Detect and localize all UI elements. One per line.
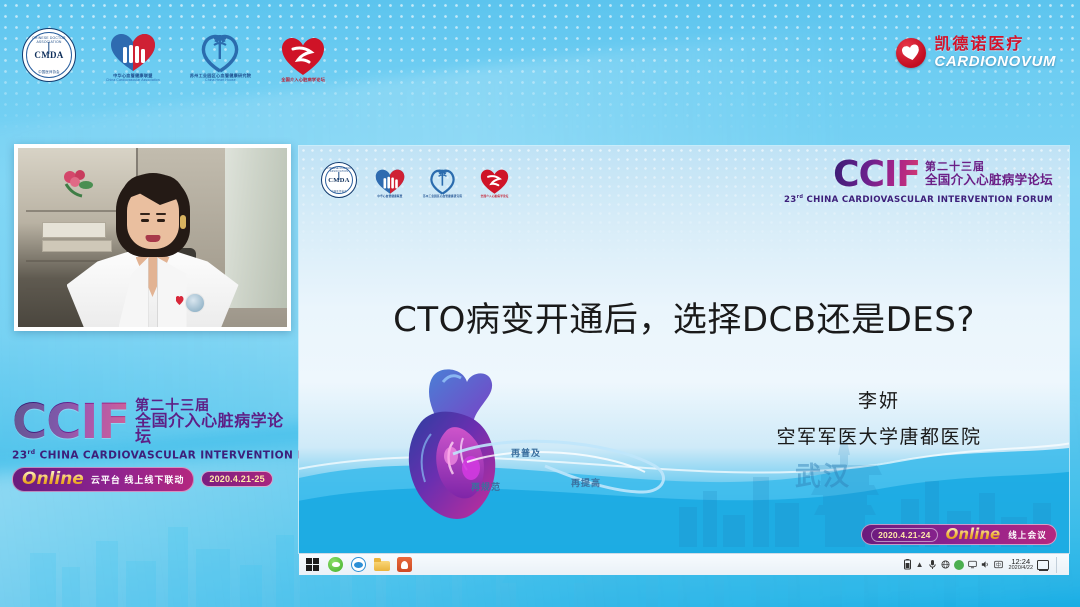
sponsor-logo: 凯德诺医疗 CARDIONOVUM (896, 36, 1056, 69)
slide-ccif-logo: CCIF 第二十三届 全国介入心脏病学论坛 23rd CHINA CARDIOV… (784, 158, 1053, 205)
forum-heart-label-cn: 全国介入心脏病学论坛 (281, 77, 325, 82)
sponsor-name-en: CARDIONOVUM (934, 54, 1056, 69)
wechat-icon (328, 557, 343, 572)
presenter-video-feed[interactable] (18, 148, 287, 327)
china-heart-house-logo: 苏州工业园区心血管健康研究院 China Heart House (190, 31, 251, 83)
wechat-taskbar-button[interactable] (325, 555, 346, 575)
slide-city-mark: 武汉 (795, 456, 851, 493)
slide-cmda-logo: CHINESE DOCTOR ASSOCIATION CMDA 中国医师协会 (321, 162, 357, 198)
presenter-brow-left (140, 213, 150, 215)
windows-taskbar[interactable]: ▲ 中 (299, 553, 1069, 575)
slide-ccif-ordinal-number: 23 (784, 195, 797, 205)
slide-forum-heart-logo: 全国介入心脏病学论坛 (480, 169, 509, 198)
slide-chh-label-cn: 苏州工业园区心血管健康研究院 (423, 195, 462, 198)
forum-heart-logo: 全国介入心脏病学论坛 (281, 37, 325, 82)
slogan-swoosh-decor (449, 426, 679, 506)
header-logo-strip: CHINESE DOCTOR ASSOCIATION CMDA 中国医师协会 中… (22, 28, 325, 82)
slide-cmda-arc-bottom: 中国医师协会 (322, 189, 356, 193)
ccif-forum-name-cn: 全国介入心脏病学论坛 (135, 414, 297, 446)
shared-slide[interactable]: 武汉 CHINESE DOCTOR ASSOCIATION CMDA 中国医师协… (299, 146, 1069, 553)
presenter-eye-left (141, 219, 149, 222)
heart-house-icon (200, 31, 240, 73)
red-heart-icon (281, 37, 325, 77)
slide-cca-label-cn: 中华心血管健康联盟 (377, 195, 402, 198)
ccif-online-label: Online (22, 471, 84, 488)
slide-red-heart-icon (480, 169, 509, 195)
battery-icon[interactable] (903, 559, 912, 570)
presenter-eye-right (157, 219, 165, 222)
slide-slogan-1: 再普及 (511, 446, 541, 459)
webinar-screen: CHINESE DOCTOR ASSOCIATION CMDA 中国医师协会 中… (0, 0, 1080, 607)
slide-ccif-ordinal-suffix: rd (797, 194, 804, 200)
cca-logo: 中华心血管健康联盟 China Cardiovascular Associati… (106, 33, 160, 83)
svg-text:中: 中 (996, 561, 1001, 568)
ccif-event-banner: CCIF 第二十三届 全国介入心脏病学论坛 23rd CHINA CARDIOV… (12, 398, 297, 502)
ccif-online-sub: 云平台 线上线下联动 (91, 473, 185, 486)
slide-title: CTO病变开通后，选择DCB还是DES? (299, 292, 1069, 341)
microphone-icon[interactable] (928, 559, 937, 570)
slide-slogan-2: 再规范 (471, 480, 501, 493)
slide-cmda-seal-icon: CHINESE DOCTOR ASSOCIATION CMDA 中国医师协会 (321, 162, 357, 198)
clock-date: 2020/4/22 (1009, 566, 1033, 572)
file-explorer-icon (374, 558, 390, 571)
presenter-head (120, 175, 186, 255)
ccif-edition-cn: 第二十三届 (135, 398, 297, 412)
powerpoint-icon (397, 557, 412, 572)
display-icon[interactable] (968, 559, 977, 570)
slide-cmda-rod-icon (338, 172, 339, 180)
ccif-wordmark: CCIF (12, 400, 129, 444)
slide-cca-logo: 中华心血管健康联盟 (375, 169, 405, 198)
speaker-icon[interactable] (981, 559, 990, 570)
slide-online-label: Online (946, 527, 1001, 542)
start-button[interactable] (302, 555, 323, 575)
slide-ccif-wordmark: CCIF (833, 158, 920, 191)
presenter-earring (180, 215, 186, 229)
ccif-date-badge: 2020.4.21-25 (201, 471, 272, 487)
ccif-ordinal-number: 23 (12, 450, 27, 462)
presenter-brow-right (156, 213, 166, 215)
ccif-ordinal-suffix: rd (27, 449, 35, 456)
windows-logo-icon (306, 558, 319, 571)
powerpoint-taskbar-button[interactable] (394, 555, 415, 575)
cmda-arc-bottom: 中国医师协会 (23, 69, 75, 74)
slide-forum-heart-label-cn: 全国介入心脏病学论坛 (481, 195, 509, 198)
slide-slogan-3: 再提高 (571, 476, 601, 489)
slide-presenter-name: 李妍 (729, 386, 1029, 413)
presenter-mouth (145, 235, 160, 242)
ccif-en-text: CHINA CARDIOVASCULAR INTERVENTION FORUM (39, 450, 342, 462)
taskbar-clock[interactable]: 12:24 2020/4/22 (1009, 558, 1033, 572)
cmda-rod-icon (48, 42, 49, 54)
slide-ccif-forum-name-en: 23rd CHINA CARDIOVASCULAR INTERVENTION F… (784, 194, 1053, 205)
chh-label-en: China Heart House (205, 78, 236, 82)
action-center-icon[interactable] (1037, 560, 1049, 570)
slide-online-sub: 线上会议 (1008, 529, 1047, 541)
chevron-up-icon[interactable]: ▲ (916, 561, 924, 569)
presenter-person (67, 177, 239, 327)
file-explorer-taskbar-button[interactable] (371, 555, 392, 575)
presenter-video-tile[interactable] (14, 144, 291, 331)
slide-heart-house-icon (429, 167, 456, 195)
slide-presenter-org: 空军军医大学唐都医院 (729, 422, 1029, 449)
status-green-icon[interactable] (954, 560, 964, 570)
cca-label-en: China Cardiovascular Association (106, 78, 160, 82)
slide-china-heart-house-logo: 苏州工业园区心血管健康研究院 (423, 167, 462, 198)
cmda-logo: CHINESE DOCTOR ASSOCIATION CMDA 中国医师协会 (22, 28, 76, 82)
ime-language-icon[interactable]: 中 (994, 559, 1003, 570)
cmda-seal-icon: CHINESE DOCTOR ASSOCIATION CMDA 中国医师协会 (22, 28, 76, 82)
sponsor-name-cn: 凯德诺医疗 (934, 36, 1056, 52)
heart-hands-icon (110, 33, 156, 73)
slide-ccif-edition-cn: 第二十三届 (925, 162, 1053, 173)
edge-taskbar-button[interactable] (348, 555, 369, 575)
slide-online-badge: 2020.4.21-24 Online 线上会议 (861, 524, 1057, 545)
slide-logo-strip: CHINESE DOCTOR ASSOCIATION CMDA 中国医师协会 中… (321, 162, 509, 198)
slide-ccif-forum-name-cn: 全国介入心脏病学论坛 (925, 174, 1053, 187)
cardionovum-heart-icon (896, 38, 926, 68)
network-icon[interactable] (941, 559, 950, 570)
slide-online-date: 2020.4.21-24 (871, 528, 938, 542)
slide-presenter-block: 李妍 空军军医大学唐都医院 (729, 386, 1029, 449)
ccif-forum-name-en: 23rd CHINA CARDIOVASCULAR INTERVENTION F… (12, 449, 297, 462)
slide-ccif-en-text: CHINA CARDIOVASCULAR INTERVENTION FORUM (807, 195, 1053, 205)
slide-heart-hands-icon (375, 169, 405, 195)
edge-icon (351, 557, 366, 572)
show-desktop-button[interactable] (1056, 557, 1064, 573)
presenter-hospital-badge (185, 293, 205, 313)
